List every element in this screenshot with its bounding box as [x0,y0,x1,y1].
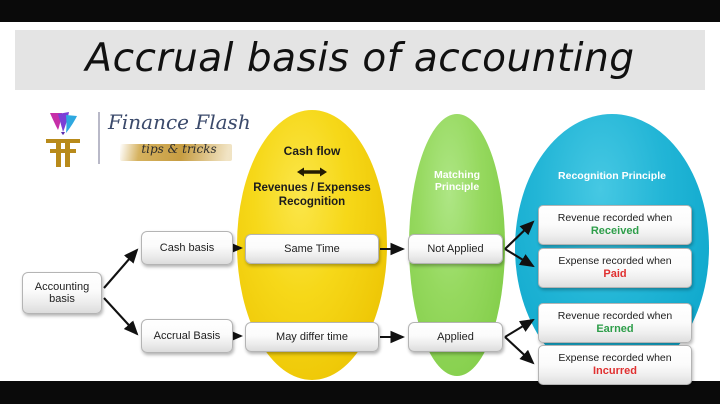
rec-1-label: Revenue recorded when [558,212,672,225]
rec-1-value: Received [591,225,639,239]
brand-name: Finance Flash [108,110,238,134]
recognition-principle-heading: Recognition Principle [515,170,709,182]
brand-logo: Finance Flash tips & tricks [32,104,237,176]
matching-line1: Matching [434,169,480,181]
node-may-differ-time[interactable]: May differ time [245,322,379,352]
video-frame: Accrual basis of accounting [0,0,720,404]
letterbox-top [0,0,720,22]
rec-3-label: Revenue recorded when [558,310,672,323]
node-expense-incurred[interactable]: Expense recorded when Incurred [538,345,692,385]
brand-tagline: tips & tricks [124,142,234,156]
node-applied[interactable]: Applied [408,322,503,352]
node-accrual-basis[interactable]: Accrual Basis [141,319,233,353]
logo-divider [98,112,100,164]
node-accounting-basis[interactable]: Accounting basis [22,272,102,314]
node-same-time[interactable]: Same Time [245,234,379,264]
revexp-line2: Recognition [279,196,345,208]
revenues-expenses-recognition-heading: Revenues / Expenses Recognition [233,182,391,209]
rec-4-value: Incurred [593,365,637,379]
rec-4-label: Expense recorded when [558,352,671,365]
node-expense-paid[interactable]: Expense recorded when Paid [538,248,692,288]
finance-flash-logo-icon [36,108,90,172]
node-revenue-received[interactable]: Revenue recorded when Received [538,205,692,245]
rec-2-value: Paid [603,268,626,282]
rec-2-label: Expense recorded when [558,255,671,268]
rec-3-value: Earned [596,323,633,337]
double-headed-arrow-icon [237,165,387,181]
node-revenue-earned[interactable]: Revenue recorded when Earned [538,303,692,343]
revexp-line1: Revenues / Expenses [253,182,371,194]
page-title: Accrual basis of accounting [15,30,705,90]
matching-line2: Principle [435,181,479,193]
node-cash-basis[interactable]: Cash basis [141,231,233,265]
matching-principle-heading: Matching Principle [409,169,505,194]
cash-flow-heading: Cash flow [237,144,387,158]
slide-canvas: Accrual basis of accounting [0,22,720,381]
node-not-applied[interactable]: Not Applied [408,234,503,264]
